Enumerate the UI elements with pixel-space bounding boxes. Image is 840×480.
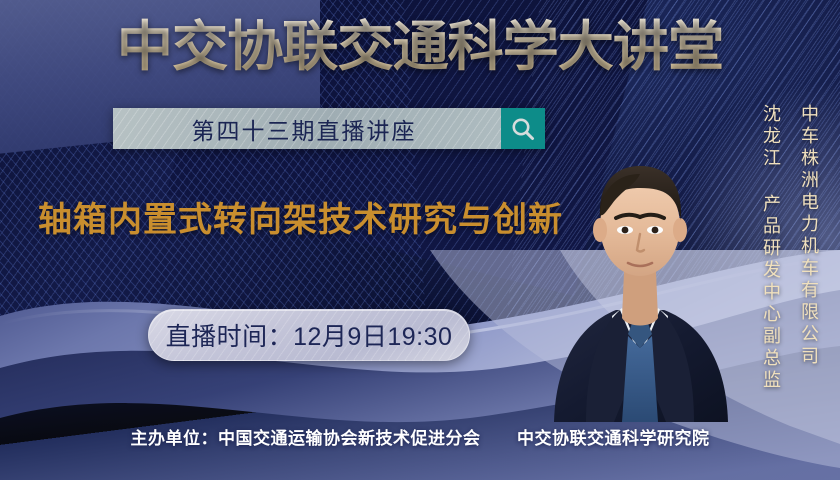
broadcast-time-label: 直播时间：12月9日19:30 [166, 317, 453, 353]
lecture-title: 轴箱内置式转向架技术研究与创新 [38, 198, 563, 242]
speaker-name-title: 沈龙江 产品研发中心副总监 [758, 104, 784, 392]
episode-banner[interactable]: 第四十三期直播讲座 [113, 108, 545, 149]
search-button[interactable] [501, 108, 545, 149]
footer-organizers: 主办单位：中国交通运输协会新技术促进分会 中交协联交通科学研究院 [0, 424, 840, 449]
footer-institute-label: 中交协联交通科学研究院 [517, 429, 710, 448]
speaker-portrait [540, 122, 740, 422]
broadcast-time-badge: 直播时间：12月9日19:30 [148, 309, 470, 361]
page-title: 中交协联交通科学大讲堂 [0, 16, 840, 78]
search-icon [510, 116, 536, 142]
footer-organizer-label: 主办单位：中国交通运输协会新技术促进分会 [131, 429, 481, 448]
livestream-poster: 中交协联交通科学大讲堂 第四十三期直播讲座 轴箱内置式转向架技术研究与创新 直播… [0, 0, 840, 480]
speaker-company: 中车株洲电力机车有限公司 [796, 104, 822, 368]
episode-label: 第四十三期直播讲座 [113, 108, 501, 149]
